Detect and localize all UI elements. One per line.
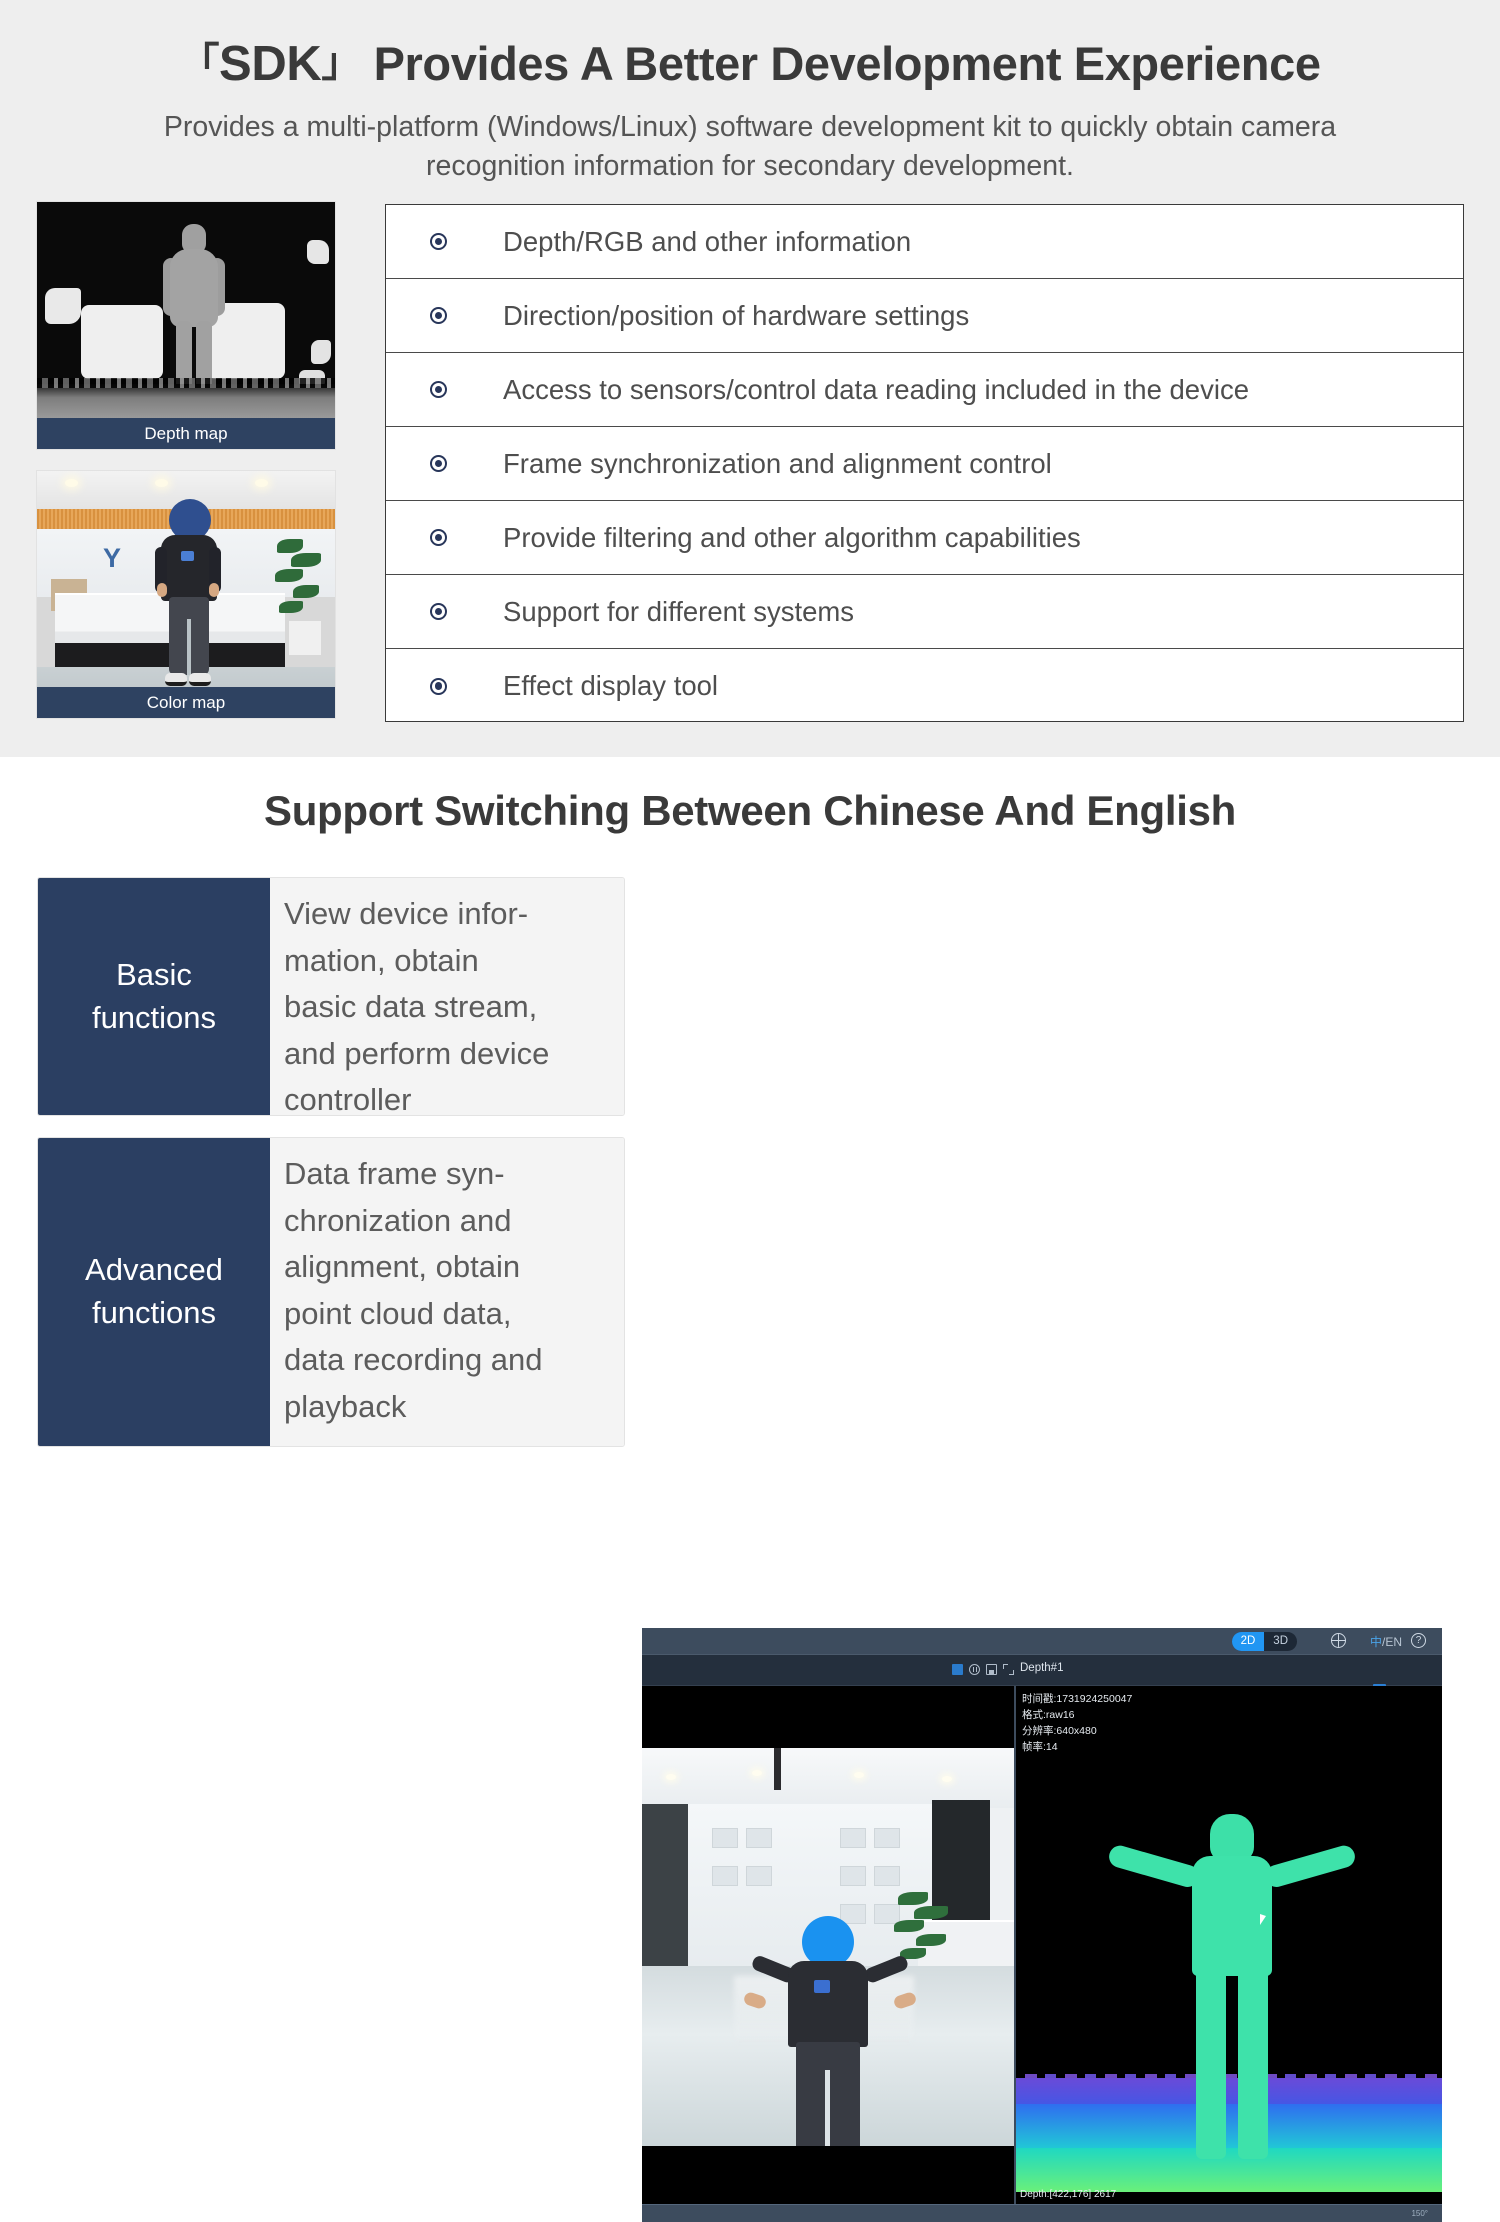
hand [157, 583, 167, 597]
list-item: Effect display tool [386, 649, 1463, 723]
list-item: Frame synchronization and alignment cont… [386, 427, 1463, 501]
depth-map-caption: Depth map [37, 418, 335, 449]
display-item [840, 1828, 866, 1848]
display-item [874, 1828, 900, 1848]
stream-framerate: 帧率:14 [1022, 1740, 1132, 1756]
door [642, 1804, 688, 1974]
depth-leg [1238, 1969, 1268, 2159]
shoe [189, 673, 211, 686]
fov-tick-label: 150° [1411, 2209, 1428, 2218]
depth-person-silhouette [1144, 1814, 1320, 2166]
depth-leg [1196, 1969, 1226, 2159]
rgb-scene [642, 1748, 1014, 2146]
list-item-label: Support for different systems [503, 596, 854, 628]
basic-functions-label: Basic functions [38, 878, 270, 1115]
list-item: Provide filtering and other algorithm ca… [386, 501, 1463, 575]
list-item-label: Access to sensors/control data reading i… [503, 374, 1249, 406]
letterbox-top [642, 1686, 1014, 1748]
shirt-logo [181, 551, 194, 561]
basic-functions-card: Basic functions View device infor- matio… [37, 877, 625, 1116]
basic-functions-description: View device infor- mation, obtain basic … [270, 878, 624, 1115]
title-bracket-close: 」 [321, 41, 361, 85]
depth-map-thumbnail: Depth map [37, 202, 335, 449]
plant-pot [289, 621, 321, 655]
display-item [874, 1866, 900, 1886]
color-map-thumbnail: Y DM [37, 471, 335, 718]
page-subtitle: Provides a multi-platform (Windows/Linux… [130, 108, 1370, 187]
list-item-label: Frame synchronization and alignment cont… [503, 448, 1052, 480]
color-map-image: Y DM [37, 471, 335, 718]
list-item-label: Depth/RGB and other information [503, 226, 911, 258]
leaf [277, 539, 303, 553]
depth-blob [307, 240, 329, 264]
ceiling-light [942, 1776, 952, 1782]
sdk-feature-list: Depth/RGB and other information Directio… [385, 204, 1464, 722]
depth-map-image [37, 202, 335, 449]
depth-arm [1107, 1843, 1202, 1890]
radio-bullet-icon [430, 381, 447, 398]
list-item: Access to sensors/control data reading i… [386, 353, 1463, 427]
ceiling-rail [774, 1748, 781, 1790]
depth-blob [311, 340, 331, 364]
ceiling-light [255, 479, 268, 487]
leaf [916, 1934, 946, 1946]
color-map-caption: Color map [37, 687, 335, 718]
app-toolbar: 2D 3D 中/EN ? [642, 1628, 1442, 1654]
section-heading: Support Switching Between Chinese And En… [0, 787, 1500, 835]
ceiling [642, 1748, 1014, 1808]
stream-resolution: 分辨率:640x480 [1022, 1724, 1132, 1740]
stream-format: 格式:raw16 [1022, 1708, 1132, 1724]
ceiling-light [65, 479, 78, 487]
display-item [746, 1828, 772, 1848]
hand [893, 1991, 918, 2010]
title-sdk: SDK [219, 37, 321, 91]
letterbox-bottom [642, 2146, 1014, 2204]
depth-person-silhouette [165, 224, 223, 402]
language-switching-section: Support Switching Between Chinese And En… [0, 757, 1500, 1465]
title-rest: Provides A Better Development Experience [361, 37, 1321, 90]
ceiling-light [666, 1774, 676, 1780]
stream-timestamp: 时间戳:1731924250047 [1022, 1692, 1132, 1708]
list-item: Direction/position of hardware settings [386, 279, 1463, 353]
view-mode-2d-button[interactable]: 2D [1232, 1632, 1265, 1651]
person-photo [746, 1916, 914, 2146]
depth-furniture [81, 305, 163, 379]
language-zh-label: 中 [1370, 1635, 1382, 1649]
radio-bullet-icon [430, 307, 447, 324]
arm [863, 1954, 909, 1984]
depth-arm [1263, 1843, 1358, 1890]
list-item-label: Direction/position of hardware settings [503, 300, 969, 332]
list-item: Depth/RGB and other information [386, 205, 1463, 279]
hand [743, 1991, 768, 2010]
radio-bullet-icon [430, 529, 447, 546]
globe-icon[interactable] [1331, 1633, 1346, 1648]
shirt-logo [814, 1980, 830, 1993]
leg-gap [825, 2070, 830, 2146]
sdk-viewer-app-screenshot: 2D 3D 中/EN ? Depth#1 [642, 1628, 1442, 2222]
display-item [840, 1866, 866, 1886]
leaf [275, 569, 303, 582]
depth-torso [170, 249, 218, 327]
leaf [279, 601, 303, 613]
person-photo [155, 499, 221, 691]
advanced-functions-card: Advanced functions Data frame syn- chron… [37, 1137, 625, 1447]
title-bracket-open: 「 [179, 41, 219, 85]
shoe [165, 673, 187, 686]
leaf [898, 1892, 928, 1905]
radio-bullet-icon [430, 233, 447, 250]
list-item-label: Provide filtering and other algorithm ca… [503, 522, 1081, 554]
view-mode-3d-button[interactable]: 3D [1264, 1632, 1297, 1651]
advanced-functions-description: Data frame syn- chronization and alignme… [270, 1138, 624, 1446]
radio-bullet-icon [430, 603, 447, 620]
stream-info-overlay: 时间戳:1731924250047 格式:raw16 分辨率:640x480 帧… [1022, 1692, 1132, 1756]
depth-blob [45, 288, 81, 324]
radio-bullet-icon [430, 455, 447, 472]
leaf [291, 553, 321, 567]
app-status-bar: 150° [642, 2204, 1442, 2222]
ceiling-light [155, 479, 168, 487]
view-mode-toggle[interactable]: 2D 3D [1232, 1632, 1297, 1651]
display-item [712, 1828, 738, 1848]
depth-preview-pane[interactable]: 时间戳:1731924250047 格式:raw16 分辨率:640x480 帧… [1016, 1686, 1442, 2204]
leg-gap [187, 619, 191, 675]
leaf [293, 585, 319, 598]
fullscreen-icon[interactable] [1003, 1664, 1014, 1675]
leaf [914, 1906, 948, 1919]
hand [209, 583, 219, 597]
stream-toolbar[interactable] [952, 1664, 1014, 1675]
stream-info-icon[interactable] [952, 1664, 963, 1675]
pause-icon[interactable] [969, 1664, 980, 1675]
display-item [746, 1866, 772, 1886]
display-item [712, 1866, 738, 1886]
depth-floor [37, 384, 335, 418]
list-item: Support for different systems [386, 575, 1463, 649]
help-circle-icon[interactable]: ? [1411, 1633, 1426, 1648]
radio-bullet-icon [430, 678, 447, 695]
shirt [788, 1961, 868, 2047]
depth-head [1210, 1814, 1254, 1862]
language-en-label: EN [1385, 1635, 1402, 1649]
depth-readout-label: Depth:[422,176] 2617 [1020, 2189, 1116, 2200]
page-title: 「SDK」 Provides A Better Development Expe… [0, 34, 1500, 92]
advanced-functions-label: Advanced functions [38, 1138, 270, 1446]
depth-pane-title: Depth#1 [1020, 1662, 1063, 1674]
mouse-cursor [1260, 1914, 1266, 1925]
list-item-label: Effect display tool [503, 670, 718, 702]
sdk-section: 「SDK」 Provides A Better Development Expe… [0, 0, 1500, 757]
save-icon[interactable] [986, 1664, 997, 1675]
ceiling-light [752, 1770, 762, 1776]
language-switch-button[interactable]: 中/EN [1370, 1633, 1402, 1650]
ceiling-light [854, 1772, 864, 1778]
rgb-preview-pane[interactable] [642, 1686, 1014, 2204]
